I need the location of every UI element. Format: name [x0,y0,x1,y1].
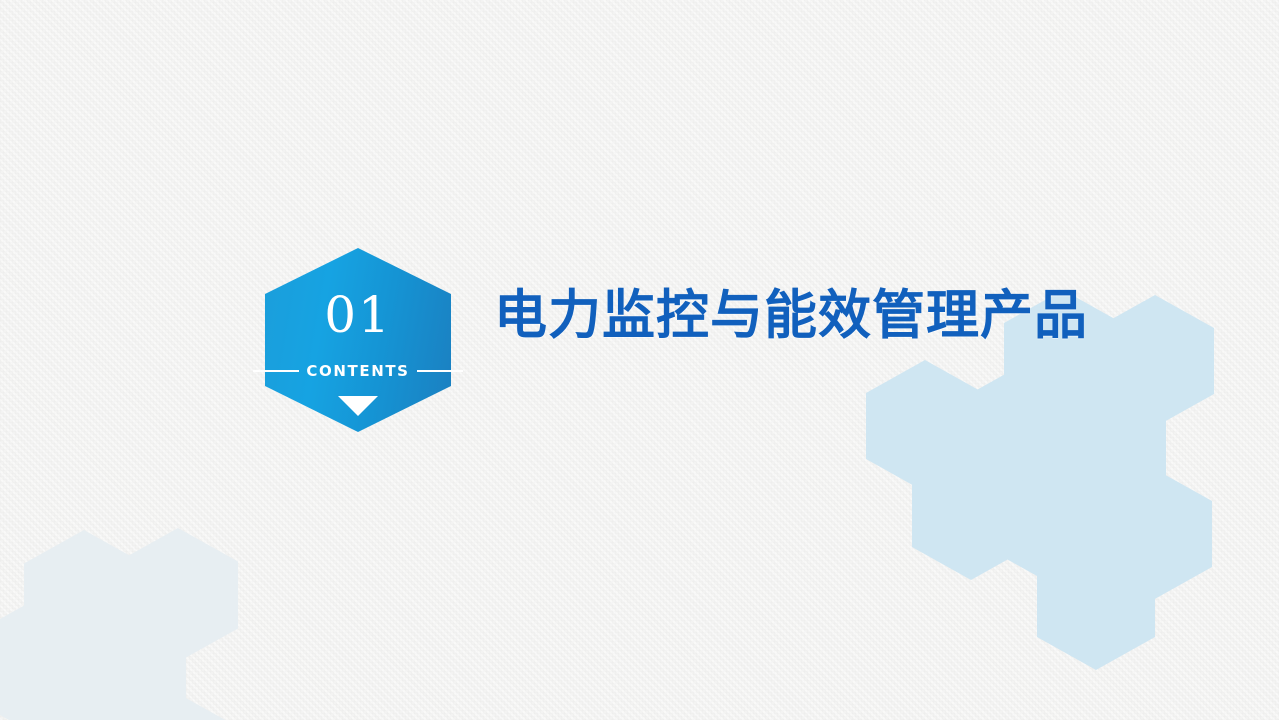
hexagon-decoration [912,448,1030,580]
section-badge: 01 CONTENTS [265,248,451,432]
hexagon-decoration [866,360,984,492]
honeycomb-decoration-left [0,0,1279,720]
hexagon-decoration [24,530,144,664]
contents-rule-right [417,370,463,372]
page-title: 电力监控与能效管理产品 [494,286,1088,345]
hexagon-decoration [0,600,94,720]
hexagon-decoration [108,688,228,720]
honeycomb-decoration-right [0,0,1279,720]
contents-label: CONTENTS [299,362,416,380]
hexagon-decoration [66,608,186,720]
hexagon-decoration [1003,458,1121,590]
triangle-down-icon [338,396,378,416]
hexagon-decoration [1094,468,1212,600]
presentation-slide: 01 CONTENTS 电力监控与能效管理产品 [0,0,1279,720]
section-number: 01 [265,290,451,340]
hexagon-decoration [1037,538,1155,670]
hexagon-decoration [1048,378,1166,510]
background-texture [0,0,1279,720]
hexagon-decoration [1096,295,1214,427]
hexagon-decoration [957,368,1075,500]
hexagon-decoration [16,684,136,720]
contents-rule-left [253,370,299,372]
hexagon-decoration [118,528,238,662]
contents-row: CONTENTS [253,361,463,381]
